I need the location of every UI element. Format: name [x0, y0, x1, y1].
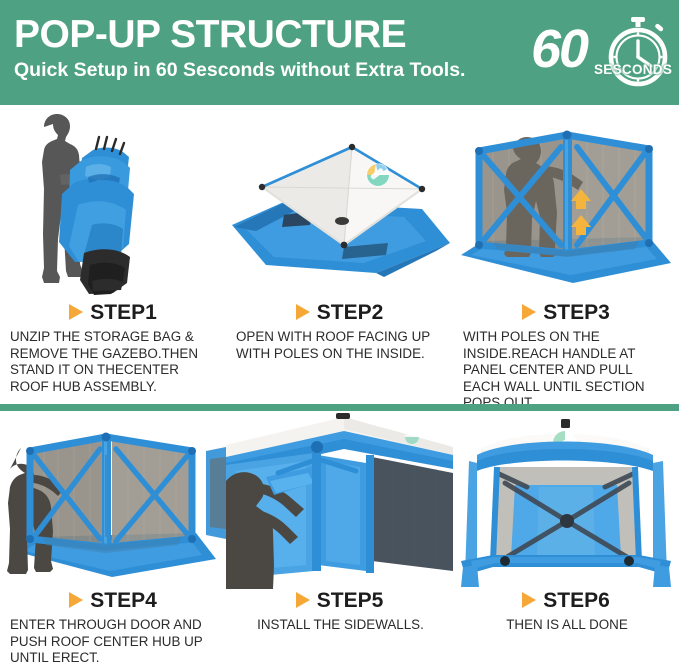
step-1-figure [0, 105, 226, 301]
header-text-group: POP-UP STRUCTURE Quick Setup in 60 Sesco… [14, 14, 534, 83]
step-4-label: STEP4 [90, 589, 157, 612]
step-4-heading: STEP4 [0, 589, 226, 613]
steps-row-bottom: STEP4 ENTER THROUGH DOOR AND PUSH ROOF C… [0, 411, 679, 667]
step-2-caption: STEP2 OPEN WITH ROOF FACING UP WITH POLE… [226, 301, 453, 362]
gazebo-completed-illustration [453, 411, 679, 589]
step-1-label: STEP1 [90, 301, 157, 324]
badge-number: 60 [531, 20, 587, 78]
step-3-caption: STEP3 WITH POLES ON THE INSIDE.REACH HAN… [453, 301, 679, 412]
step-6-heading: STEP6 [453, 589, 679, 613]
step-2-figure [226, 105, 453, 301]
step-3-text: WITH POLES ON THE INSIDE.REACH HANDLE AT… [453, 329, 679, 412]
step-cell-4: STEP4 ENTER THROUGH DOOR AND PUSH ROOF C… [0, 411, 226, 667]
steps-row-top: STEP1 UNZIP THE STORAGE BAG & REMOVE THE… [0, 105, 679, 404]
gazebo-pulling-wall-section-illustration [453, 105, 679, 301]
triangle-marker-icon [522, 592, 536, 608]
gazebo-push-roof-hub-illustration [0, 411, 226, 589]
gazebo-install-sidewalls-illustration [226, 411, 453, 589]
triangle-marker-icon [69, 592, 83, 608]
step-1-heading: STEP1 [0, 301, 226, 325]
step-3-heading: STEP3 [453, 301, 679, 325]
triangle-marker-icon [296, 592, 310, 608]
step-6-text: THEN IS ALL DONE [453, 617, 679, 634]
step-3-label: STEP3 [543, 301, 610, 324]
section-divider [0, 404, 679, 411]
step-2-heading: STEP2 [226, 301, 453, 325]
badge-label: SESCONDS [594, 62, 672, 77]
step-4-text: ENTER THROUGH DOOR AND PUSH ROOF CENTER … [0, 617, 226, 667]
page-title: POP-UP STRUCTURE [14, 14, 534, 56]
step-4-caption: STEP4 ENTER THROUGH DOOR AND PUSH ROOF C… [0, 589, 226, 667]
step-cell-5: STEP5 INSTALL THE SIDEWALLS. [226, 411, 453, 667]
step-cell-2: STEP2 OPEN WITH ROOF FACING UP WITH POLE… [226, 105, 453, 404]
person-holding-folded-gazebo-illustration [0, 105, 226, 301]
step-5-heading: STEP5 [226, 589, 453, 613]
step-2-text: OPEN WITH ROOF FACING UP WITH POLES ON T… [226, 329, 453, 362]
step-1-text: UNZIP THE STORAGE BAG & REMOVE THE GAZEB… [0, 329, 226, 395]
step-2-label: STEP2 [317, 301, 384, 324]
step-5-label: STEP5 [317, 589, 384, 612]
triangle-marker-icon [296, 304, 310, 320]
triangle-marker-icon [69, 304, 83, 320]
gazebo-roof-facing-up-illustration [226, 105, 453, 301]
step-cell-1: STEP1 UNZIP THE STORAGE BAG & REMOVE THE… [0, 105, 226, 404]
stopwatch-icon [603, 16, 673, 88]
step-cell-3: STEP3 WITH POLES ON THE INSIDE.REACH HAN… [453, 105, 679, 404]
sixty-seconds-badge: 60 SESCONDS [531, 16, 673, 94]
step-cell-6: STEP6 THEN IS ALL DONE [453, 411, 679, 667]
step-6-label: STEP6 [543, 589, 610, 612]
step-5-caption: STEP5 INSTALL THE SIDEWALLS. [226, 589, 453, 634]
triangle-marker-icon [522, 304, 536, 320]
step-3-figure [453, 105, 679, 301]
step-6-figure [453, 411, 679, 589]
header-banner: POP-UP STRUCTURE Quick Setup in 60 Sesco… [0, 0, 679, 105]
step-4-figure [0, 411, 226, 589]
page-subtitle: Quick Setup in 60 Sesconds without Extra… [14, 57, 534, 83]
step-6-caption: STEP6 THEN IS ALL DONE [453, 589, 679, 634]
step-5-text: INSTALL THE SIDEWALLS. [226, 617, 453, 634]
step-5-figure [226, 411, 453, 589]
step-1-caption: STEP1 UNZIP THE STORAGE BAG & REMOVE THE… [0, 301, 226, 395]
